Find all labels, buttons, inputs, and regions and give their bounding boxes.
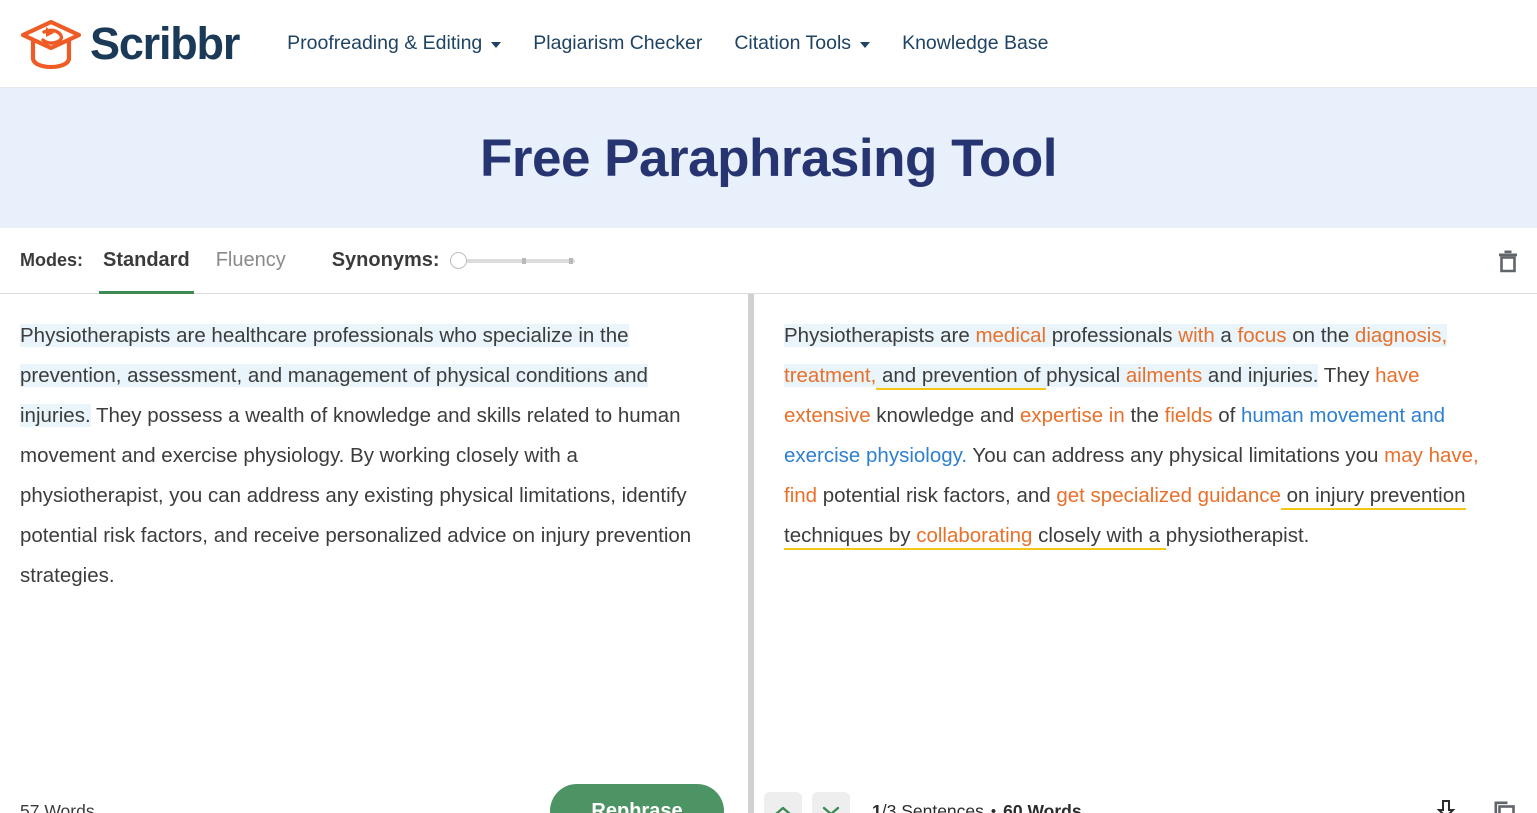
graduation-cap-icon (18, 18, 84, 70)
nav-item-knowledge-base[interactable]: Knowledge Base (902, 32, 1048, 55)
result-segment[interactable]: physiotherapist. (1166, 524, 1310, 547)
result-segment[interactable]: with (1178, 324, 1214, 347)
sentence-current: 1 (872, 801, 882, 813)
mode-tabs: Standard Fluency (99, 228, 290, 294)
slider-thumb[interactable] (450, 252, 467, 269)
source-footer: 57 Words Rephrase (0, 769, 748, 813)
brand-name: Scribbr (90, 21, 239, 66)
slider-track (458, 259, 575, 263)
result-segment[interactable]: medical (975, 324, 1046, 347)
result-segment[interactable]: by (883, 524, 916, 550)
nav-label: Citation Tools (734, 32, 851, 55)
delete-text-button[interactable] (1491, 244, 1525, 278)
synonyms-label: Synonyms: (332, 249, 440, 272)
result-segment[interactable]: get specialized guidance (1056, 484, 1281, 507)
result-segment[interactable]: expertise in (1020, 404, 1125, 427)
scribbr-logo[interactable]: Scribbr (18, 18, 239, 70)
result-segment[interactable]: and injuries. (1202, 364, 1318, 387)
result-segment[interactable]: of (1213, 404, 1242, 427)
result-segment[interactable]: knowledge and (871, 404, 1020, 427)
result-text[interactable]: Physiotherapists are medical professiona… (754, 294, 1537, 769)
synonyms-slider[interactable] (450, 250, 575, 272)
editor-area: Physiotherapists are healthcare professi… (0, 294, 1537, 813)
chevron-down-icon (491, 42, 501, 48)
separator-dot: • (991, 803, 996, 813)
nav-item-plagiarism-checker[interactable]: Plagiarism Checker (533, 32, 702, 55)
result-segment[interactable]: professionals (1046, 324, 1178, 347)
download-icon (1435, 799, 1457, 813)
top-navigation-bar: Scribbr Proofreading & Editing Plagiaris… (0, 0, 1537, 88)
nav-item-citation-tools[interactable]: Citation Tools (734, 32, 870, 55)
nav-label: Plagiarism Checker (533, 32, 702, 55)
result-segment[interactable]: the (1125, 404, 1165, 427)
result-segment[interactable]: Physiotherapists are (784, 324, 975, 347)
result-segment[interactable]: They (1318, 364, 1375, 387)
source-pane: Physiotherapists are healthcare professi… (0, 294, 748, 813)
result-segment[interactable]: focus (1238, 324, 1287, 347)
nav-label: Proofreading & Editing (287, 32, 482, 55)
result-pane: Physiotherapists are medical professiona… (754, 294, 1537, 813)
source-textarea[interactable]: Physiotherapists are healthcare professi… (0, 294, 748, 769)
result-word-count: 60 Words (1003, 801, 1081, 813)
trash-icon (1497, 249, 1519, 273)
result-segment[interactable]: on the (1287, 324, 1355, 347)
result-actions (1431, 796, 1519, 813)
result-segment[interactable]: collaborating (916, 524, 1032, 550)
main-nav-links: Proofreading & Editing Plagiarism Checke… (287, 32, 1048, 55)
result-segment[interactable]: You can address any physical limitations… (967, 444, 1384, 467)
result-segment[interactable]: closely with a (1032, 524, 1165, 550)
mode-label: Standard (103, 249, 190, 272)
nav-label: Knowledge Base (902, 32, 1048, 55)
hero-banner: Free Paraphrasing Tool (0, 88, 1537, 228)
next-sentence-button[interactable] (812, 792, 850, 813)
sentence-word-info: 1/3 Sentences•60 Words (872, 801, 1082, 813)
nav-item-proofreading-editing[interactable]: Proofreading & Editing (287, 32, 501, 55)
modes-label: Modes: (20, 250, 83, 271)
result-segment[interactable]: ailments (1126, 364, 1202, 387)
mode-tab-fluency[interactable]: Fluency (212, 228, 290, 294)
copy-icon (1491, 798, 1517, 813)
result-segment[interactable]: physical (1046, 364, 1126, 387)
previous-sentence-button[interactable] (764, 792, 802, 813)
mode-tab-standard[interactable]: Standard (99, 228, 194, 294)
source-rest: They possess a wealth of knowledge and s… (20, 404, 691, 587)
result-segment[interactable]: potential risk factors, and (817, 484, 1056, 507)
chevron-down-icon (860, 42, 870, 48)
result-footer: 1/3 Sentences•60 Words (754, 769, 1537, 813)
chevron-down-icon (822, 805, 840, 813)
slider-tick (522, 258, 526, 264)
editor-toolbar: Modes: Standard Fluency Synonyms: (0, 228, 1537, 294)
chevron-up-icon (774, 805, 792, 813)
slider-tick (569, 258, 573, 264)
rephrase-button[interactable]: Rephrase (550, 784, 724, 813)
result-segment[interactable]: a (1215, 324, 1238, 347)
download-button[interactable] (1431, 796, 1461, 813)
page-title: Free Paraphrasing Tool (480, 128, 1057, 189)
sentence-total: /3 Sentences (882, 801, 984, 813)
source-word-count: 57 Words (20, 801, 95, 813)
result-segment[interactable]: fields (1165, 404, 1213, 427)
mode-label: Fluency (216, 249, 286, 272)
copy-button[interactable] (1489, 796, 1519, 813)
result-segment[interactable]: and prevention of (876, 364, 1046, 390)
